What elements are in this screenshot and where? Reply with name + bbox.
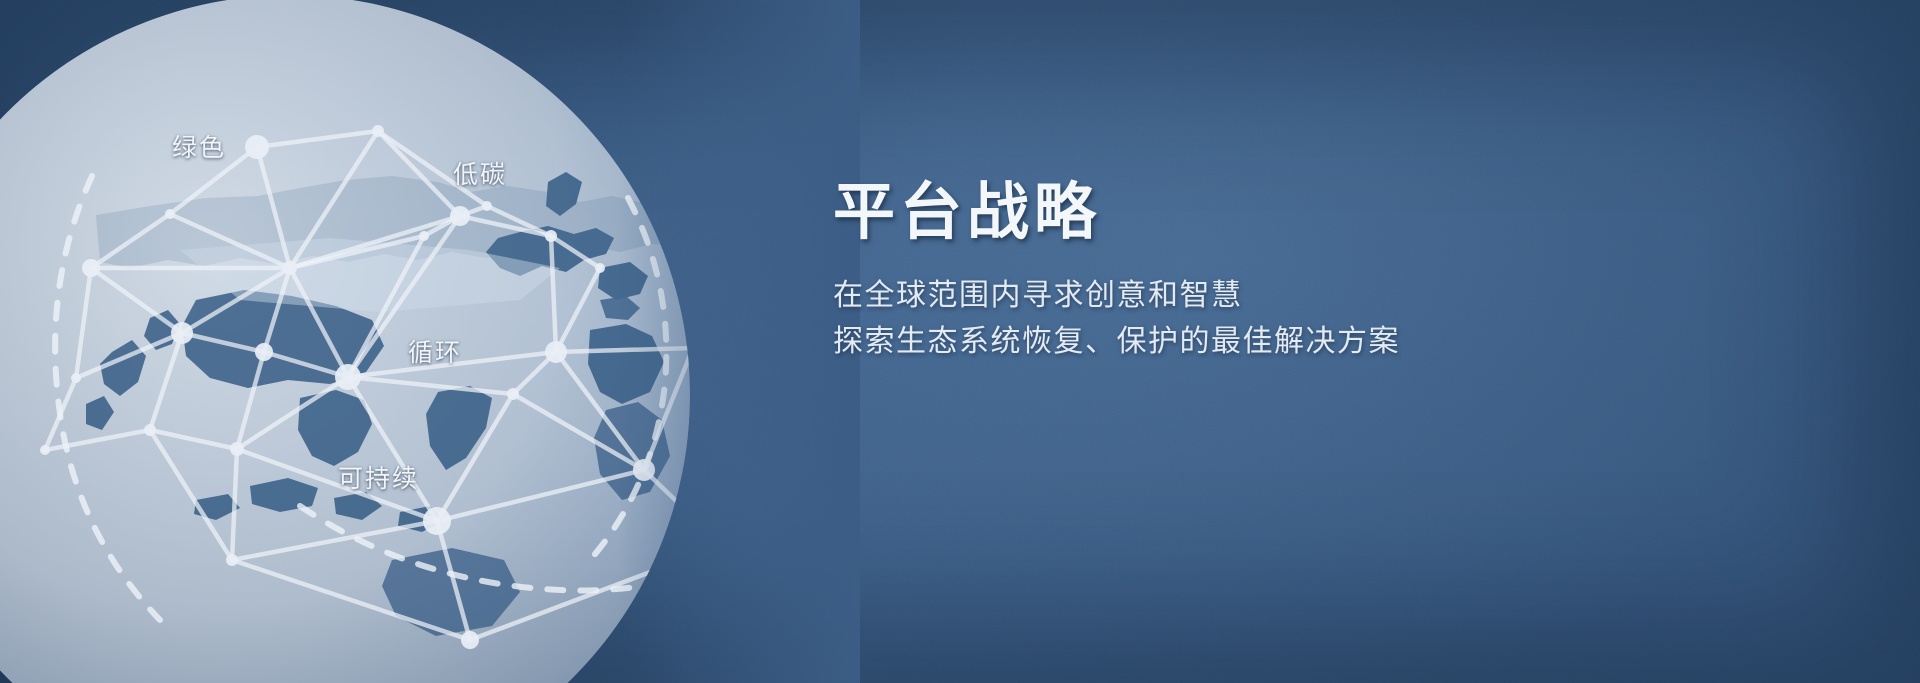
globe-label-low-carbon: 低碳	[453, 155, 507, 191]
globe-label-sustainable: 可持续	[338, 459, 419, 495]
subtitle-line-2: 探索生态系统恢复、保护的最佳解决方案	[833, 319, 1633, 365]
banner-subtitle: 在全球范围内寻求创意和智慧 探索生态系统恢复、保护的最佳解决方案	[833, 273, 1633, 364]
globe-label-green: 绿色	[172, 128, 226, 164]
subtitle-line-1: 在全球范围内寻求创意和智慧	[833, 273, 1633, 319]
banner-copy: 平台战略 在全球范围内寻求创意和智慧 探索生态系统恢复、保护的最佳解决方案	[833, 178, 1633, 365]
globe-label-circular: 循环	[408, 333, 462, 369]
page-title: 平台战略	[833, 178, 1633, 247]
hero-banner: 绿色 低碳 循环 可持续 平台战略 在全球范围内寻求创意和智慧 探索生态系统恢复…	[0, 0, 1920, 683]
